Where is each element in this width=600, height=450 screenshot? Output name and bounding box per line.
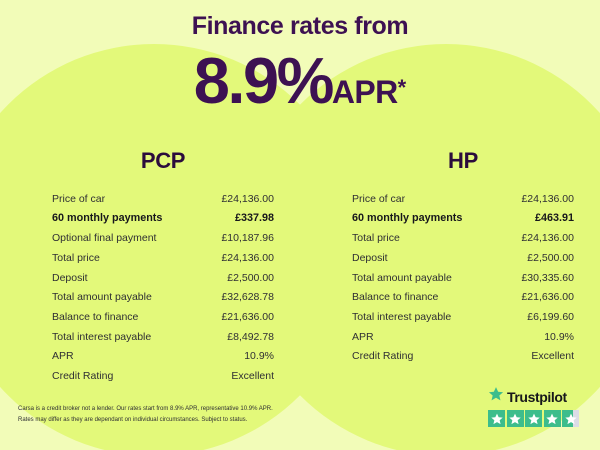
table-row: APR 10.9% [352, 327, 574, 347]
row-value: Excellent [531, 351, 574, 362]
trustpilot-badge[interactable]: Trustpilot [488, 386, 588, 427]
table-row: 60 monthly payments £463.91 [352, 209, 574, 229]
row-value: £10,187.96 [221, 233, 274, 244]
row-label: Total interest payable [352, 312, 451, 323]
rating-star-5-partial [562, 410, 579, 427]
trustpilot-star-icon [488, 386, 504, 407]
finance-comparison: PCP Price of car £24,136.00 60 monthly p… [0, 148, 600, 386]
column-heading-hp: HP [352, 148, 574, 174]
row-value: £30,335.60 [521, 273, 574, 284]
trustpilot-rating-stars [488, 410, 588, 427]
disclaimer-line-1: Carsa is a credit broker not a lender. O… [18, 404, 348, 415]
row-value: £337.98 [235, 213, 274, 224]
row-value: £24,136.00 [521, 194, 574, 205]
table-row: Deposit £2,500.00 [352, 248, 574, 268]
column-heading-pcp: PCP [52, 148, 274, 174]
row-value: £21,636.00 [521, 292, 574, 303]
row-label: Balance to finance [52, 312, 138, 323]
row-label: Total amount payable [52, 292, 152, 303]
trustpilot-wordmark: Trustpilot [488, 386, 588, 407]
table-row: Price of car £24,136.00 [352, 189, 574, 209]
row-label: Credit Rating [352, 351, 413, 362]
table-row: Credit Rating Excellent [352, 347, 574, 367]
table-row: Total price £24,136.00 [352, 229, 574, 249]
row-value: 10.9% [544, 332, 574, 343]
row-value: £32,628.78 [221, 292, 274, 303]
rate-value: 8.9% [194, 48, 332, 113]
row-label: 60 monthly payments [352, 213, 462, 224]
row-label: Total interest payable [52, 332, 151, 343]
row-label: Total amount payable [352, 273, 452, 284]
headline-rate: 8.9% APR * [0, 48, 600, 113]
row-label: Deposit [352, 253, 388, 264]
legal-disclaimer: Carsa is a credit broker not a lender. O… [18, 404, 348, 426]
row-value: £24,136.00 [221, 194, 274, 205]
row-label: APR [352, 332, 374, 343]
row-label: Total price [52, 253, 100, 264]
disclaimer-line-2: Rates may differ as they are dependant o… [18, 415, 348, 426]
finance-column-hp: HP Price of car £24,136.00 60 monthly pa… [300, 148, 600, 386]
row-value: £8,492.78 [227, 332, 274, 343]
table-row: Total amount payable £30,335.60 [352, 268, 574, 288]
row-value: £24,136.00 [221, 253, 274, 264]
finance-column-pcp: PCP Price of car £24,136.00 60 monthly p… [0, 148, 300, 386]
rating-star-1 [488, 410, 505, 427]
table-row: Total amount payable £32,628.78 [52, 288, 274, 308]
table-row: Balance to finance £21,636.00 [52, 307, 274, 327]
row-value: 10.9% [244, 351, 274, 362]
table-row: Balance to finance £21,636.00 [352, 288, 574, 308]
row-label: Optional final payment [52, 233, 156, 244]
hp-rows: Price of car £24,136.00 60 monthly payme… [352, 189, 574, 366]
trustpilot-label: Trustpilot [507, 389, 567, 405]
row-value: £24,136.00 [521, 233, 574, 244]
table-row: Price of car £24,136.00 [52, 189, 274, 209]
rating-star-3 [525, 410, 542, 427]
row-label: APR [52, 351, 74, 362]
page-title: Finance rates from [0, 14, 600, 39]
pcp-rows: Price of car £24,136.00 60 monthly payme… [52, 189, 274, 386]
table-row: Total interest payable £6,199.60 [352, 307, 574, 327]
row-value: £2,500.00 [527, 253, 574, 264]
promo-banner: Finance rates from 8.9% APR * PCP Price … [0, 0, 600, 450]
row-label: Total price [352, 233, 400, 244]
row-label: Deposit [52, 273, 88, 284]
rate-suffix: APR [332, 76, 398, 108]
table-row: Total price £24,136.00 [52, 248, 274, 268]
row-value: £2,500.00 [227, 273, 274, 284]
asterisk-marker: * [398, 77, 407, 99]
rating-star-4 [544, 410, 561, 427]
table-row: Deposit £2,500.00 [52, 268, 274, 288]
row-label: 60 monthly payments [52, 213, 162, 224]
row-value: £6,199.60 [527, 312, 574, 323]
table-row: 60 monthly payments £337.98 [52, 209, 274, 229]
row-label: Credit Rating [52, 371, 113, 382]
row-value: Excellent [231, 371, 274, 382]
row-label: Price of car [52, 194, 105, 205]
row-value: £21,636.00 [221, 312, 274, 323]
row-label: Price of car [352, 194, 405, 205]
row-label: Balance to finance [352, 292, 438, 303]
banner-header: Finance rates from 8.9% APR * [0, 14, 600, 113]
row-value: £463.91 [535, 213, 574, 224]
table-row: APR 10.9% [52, 347, 274, 367]
rating-star-2 [507, 410, 524, 427]
table-row: Credit Rating Excellent [52, 366, 274, 386]
table-row: Total interest payable £8,492.78 [52, 327, 274, 347]
table-row: Optional final payment £10,187.96 [52, 229, 274, 249]
